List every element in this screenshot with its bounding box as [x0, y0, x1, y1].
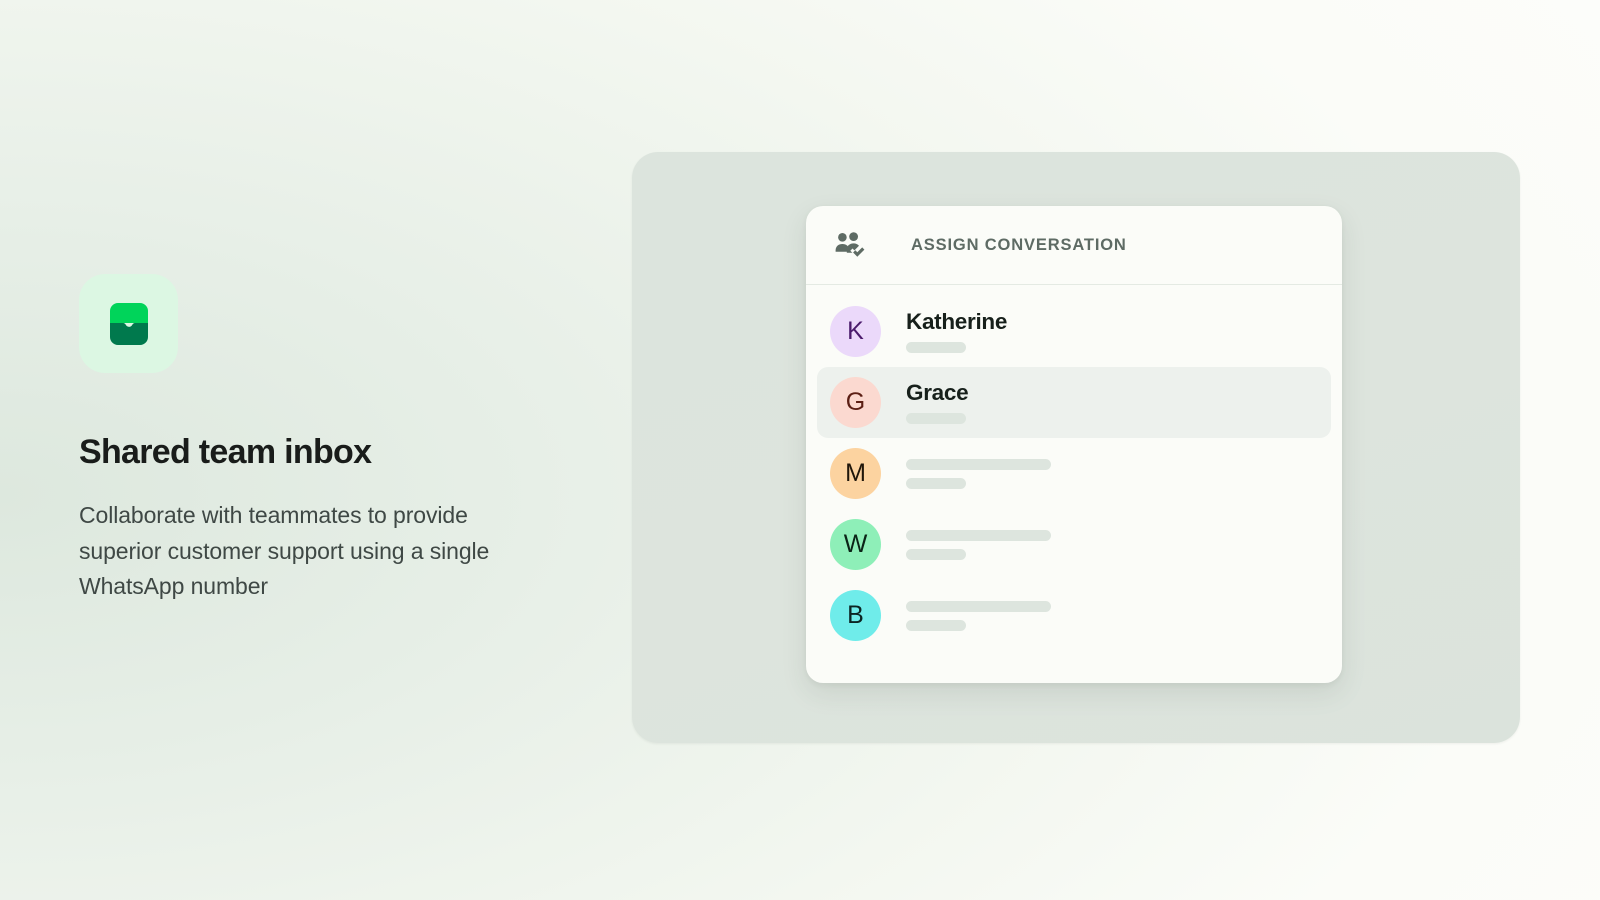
assignee-list: K Katherine G Grace M: [806, 285, 1342, 651]
placeholder-bar: [906, 413, 966, 424]
inbox-tray-icon: [79, 274, 178, 373]
list-item-body: [906, 459, 1051, 489]
placeholder-bar: [906, 342, 966, 353]
page-title: Shared team inbox: [79, 373, 549, 472]
feature-description: Collaborate with teammates to provide su…: [79, 472, 519, 605]
avatar: K: [830, 306, 881, 357]
placeholder-bar: [906, 459, 1051, 470]
placeholder-bar: [906, 620, 966, 631]
assign-card-header: ASSIGN CONVERSATION: [806, 206, 1342, 285]
feature-column: Shared team inbox Collaborate with teamm…: [79, 274, 549, 605]
avatar: B: [830, 590, 881, 641]
placeholder-bar: [906, 549, 966, 560]
assign-conversation-card: ASSIGN CONVERSATION K Katherine G Grace …: [806, 206, 1342, 683]
placeholder-bar: [906, 601, 1051, 612]
list-item-body: Katherine: [906, 310, 1007, 354]
avatar: W: [830, 519, 881, 570]
list-item[interactable]: M: [817, 438, 1331, 509]
people-check-icon: [835, 230, 865, 260]
list-item[interactable]: G Grace: [817, 367, 1331, 438]
list-item[interactable]: K Katherine: [817, 296, 1331, 367]
list-item-body: Grace: [906, 381, 968, 425]
list-item-body: [906, 601, 1051, 631]
assignee-name: Katherine: [906, 310, 1007, 335]
assign-card-title: ASSIGN CONVERSATION: [911, 236, 1127, 255]
list-item[interactable]: W: [817, 509, 1331, 580]
assignee-name: Grace: [906, 381, 968, 406]
page-root: Shared team inbox Collaborate with teamm…: [0, 0, 1600, 900]
list-item[interactable]: B: [817, 580, 1331, 651]
avatar: M: [830, 448, 881, 499]
avatar: G: [830, 377, 881, 428]
list-item-body: [906, 530, 1051, 560]
placeholder-bar: [906, 530, 1051, 541]
placeholder-bar: [906, 478, 966, 489]
